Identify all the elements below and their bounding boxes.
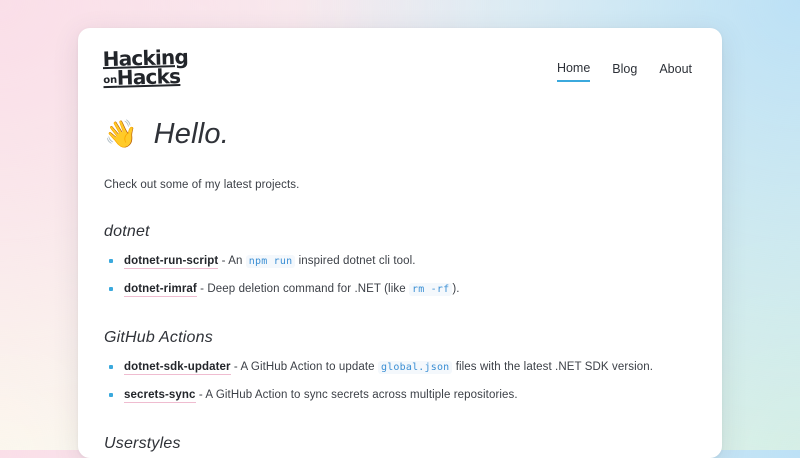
project-link-secrets-sync[interactable]: secrets-sync [124,389,196,403]
page-card: Hacking onHacks Home Blog About 👋 Hello.… [78,28,722,458]
list-item-text-after: inspired dotnet cli tool. [295,255,415,267]
project-link-dotnet-sdk-updater[interactable]: dotnet-sdk-updater [124,361,231,375]
list-item-text-before: - An [218,255,245,267]
intro-text: Check out some of my latest projects. [102,179,694,191]
list-item-text-after: files with the latest .NET SDK version. [452,361,653,373]
nav-item-home[interactable]: Home [557,61,590,82]
inline-code: npm run [246,255,296,268]
list-item-text-before: - A GitHub Action to sync secrets across… [196,389,518,401]
section-title-github-actions: GitHub Actions [102,329,694,347]
list-item: dotnet-sdk-updater - A GitHub Action to … [106,359,694,375]
site-logo[interactable]: Hacking onHacks [102,49,189,88]
logo-word-hacks: Hacks [117,64,181,90]
site-header: Hacking onHacks Home Blog About [102,50,694,96]
project-link-dotnet-rimraf[interactable]: dotnet-rimraf [124,283,197,297]
nav-item-blog[interactable]: Blog [612,62,637,81]
list-item: dotnet-run-script - An npm run inspired … [106,253,694,269]
main-nav: Home Blog About [557,50,694,82]
list-item: secrets-sync - A GitHub Action to sync s… [106,387,694,403]
section-title-dotnet: dotnet [102,223,694,241]
list-item-text-before: - Deep deletion command for .NET (like [197,283,409,295]
section-title-userstyles: Userstyles [102,435,694,453]
project-link-dotnet-run-script[interactable]: dotnet-run-script [124,255,218,269]
logo-line-hacks: onHacks [103,67,189,87]
project-list-github-actions: dotnet-sdk-updater - A GitHub Action to … [102,359,694,403]
inline-code: global.json [378,361,452,374]
list-item: dotnet-rimraf - Deep deletion command fo… [106,281,694,297]
page-title: Hello. [154,118,229,151]
list-item-text-before: - A GitHub Action to update [231,361,378,373]
nav-item-about[interactable]: About [659,62,692,81]
waving-hand-emoji: 👋 [104,121,138,148]
inline-code: rm -rf [409,283,452,296]
hero-heading-row: 👋 Hello. [102,118,694,151]
card-content: Hacking onHacks Home Blog About 👋 Hello.… [78,28,722,453]
list-item-text-after: ). [452,283,459,295]
project-list-dotnet: dotnet-run-script - An npm run inspired … [102,253,694,297]
logo-word-on: on [103,74,117,85]
